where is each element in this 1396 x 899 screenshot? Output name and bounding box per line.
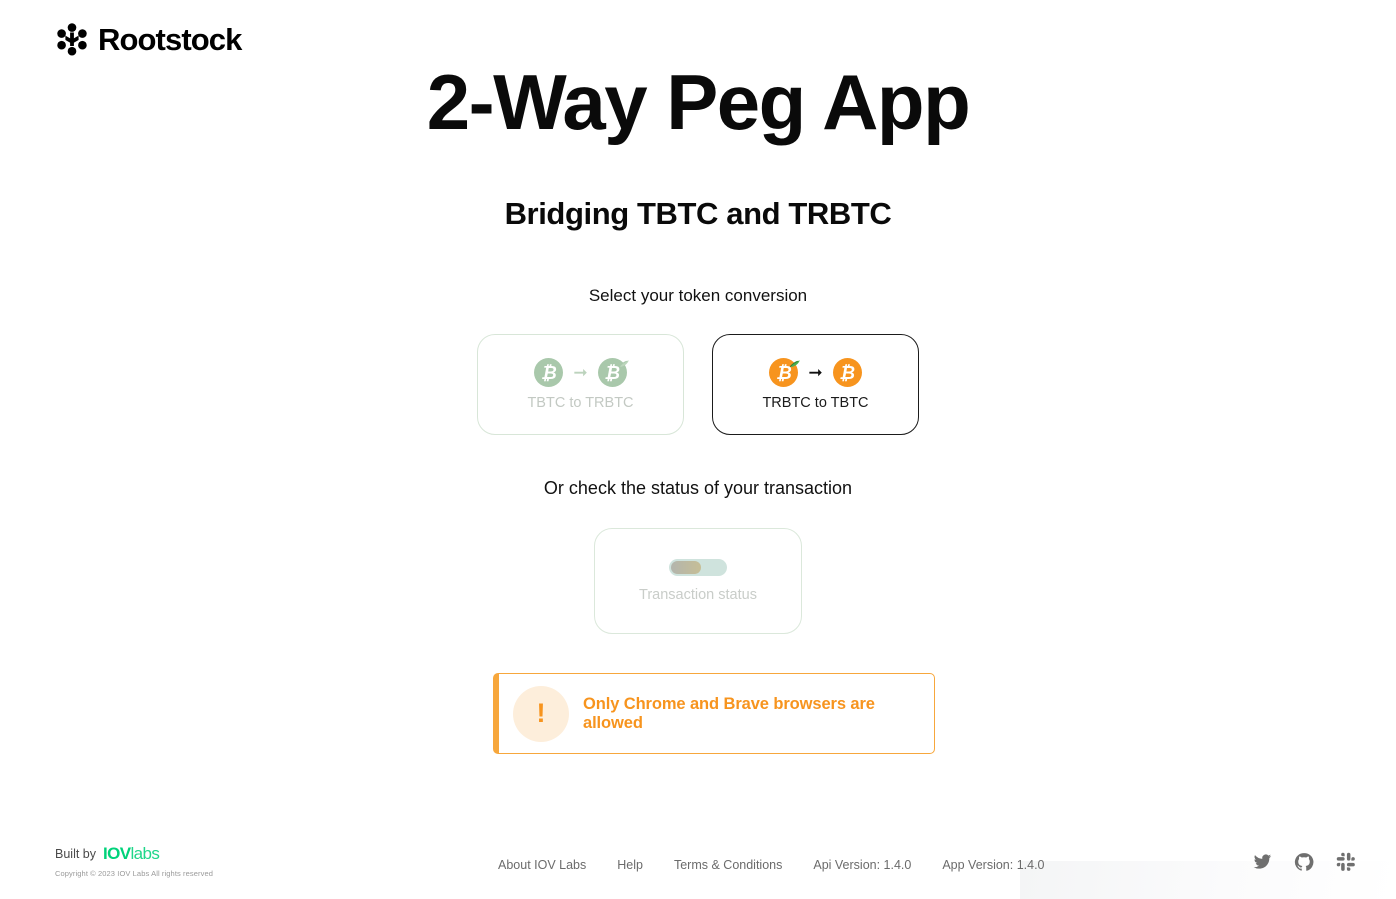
conversion-card-list: ₿ ➞ ₿ TBTC to TRBTC ₿ — [0, 334, 1396, 435]
footer-link-terms-and-conditions[interactable]: Terms & Conditions — [674, 858, 782, 872]
leaf-icon — [618, 356, 630, 368]
twitter-link[interactable] — [1252, 852, 1272, 872]
exclamation-glyph: ! — [537, 700, 546, 727]
coin-from-wrap: ₿ — [534, 358, 563, 387]
leaf-icon — [789, 356, 801, 368]
footer-app-version: App Version: 1.4.0 — [942, 858, 1044, 872]
brand-logo[interactable]: Rootstock — [55, 22, 241, 56]
brand-name: Rootstock — [98, 24, 241, 55]
github-link[interactable] — [1294, 852, 1314, 872]
coin-to-wrap: ₿ — [598, 358, 627, 387]
check-status-label: Or check the status of your transaction — [0, 478, 1396, 499]
bitcoin-coin-icon: ₿ — [833, 358, 862, 387]
twitter-icon — [1252, 852, 1272, 872]
iovlabs-logo-bold: IOV — [103, 844, 131, 863]
conversion-icons: ₿ ➞ ₿ — [534, 358, 626, 387]
footer-link-about-iov-labs[interactable]: About IOV Labs — [498, 858, 586, 872]
transaction-status-card-wrap: Transaction status — [0, 528, 1396, 634]
footer-social-links — [1252, 852, 1356, 872]
transaction-status-label: Transaction status — [639, 587, 757, 603]
transaction-status-card[interactable]: Transaction status — [594, 528, 802, 634]
status-toggle-pill-icon — [669, 559, 727, 576]
two-way-peg-app-page: Rootstock 2-Way Peg App Bridging TBTC an… — [0, 0, 1396, 899]
conversion-card-label: TBTC to TRBTC — [527, 395, 633, 411]
browser-warning-text: Only Chrome and Brave browsers are allow… — [583, 695, 934, 733]
footer-api-version: Api Version: 1.4.0 — [813, 858, 911, 872]
conversion-icons: ₿ ➞ ₿ — [769, 358, 861, 387]
conversion-card-tbtc-to-trbtc[interactable]: ₿ ➞ ₿ TBTC to TRBTC — [477, 334, 684, 435]
coin-from-wrap: ₿ — [769, 358, 798, 387]
github-icon — [1294, 852, 1314, 872]
slack-icon — [1336, 852, 1356, 872]
arrow-right-icon: ➞ — [808, 364, 822, 381]
iovlabs-logo-light: labs — [131, 844, 160, 863]
footer-link-help[interactable]: Help — [617, 858, 643, 872]
select-conversion-label: Select your token conversion — [0, 286, 1396, 306]
built-by-row: Built by IOVlabs — [55, 845, 213, 862]
arrow-right-icon: ➞ — [573, 364, 587, 381]
page-title: 2-Way Peg App — [0, 60, 1396, 146]
footer-links: About IOV Labs Help Terms & Conditions A… — [498, 858, 1045, 872]
footer-brand-block: Built by IOVlabs Copyright © 2023 IOV La… — [55, 845, 213, 878]
page-footer: Built by IOVlabs Copyright © 2023 IOV La… — [0, 837, 1396, 899]
copyright-text: Copyright © 2023 IOV Labs All rights res… — [55, 869, 213, 878]
rootstock-flower-icon — [55, 22, 89, 56]
browser-warning-banner: ! Only Chrome and Brave browsers are all… — [493, 673, 935, 754]
status-toggle-knob — [671, 561, 701, 574]
conversion-card-label: TRBTC to TBTC — [762, 395, 868, 411]
slack-link[interactable] — [1336, 852, 1356, 872]
conversion-card-trbtc-to-tbtc[interactable]: ₿ ➞ ₿ TRBTC to TBTC — [712, 334, 919, 435]
exclamation-icon: ! — [513, 686, 569, 742]
bitcoin-coin-icon: ₿ — [534, 358, 563, 387]
built-by-label: Built by — [55, 847, 96, 861]
iovlabs-logo[interactable]: IOVlabs — [103, 845, 159, 862]
coin-to-wrap: ₿ — [833, 358, 862, 387]
page-subtitle: Bridging TBTC and TRBTC — [0, 196, 1396, 232]
